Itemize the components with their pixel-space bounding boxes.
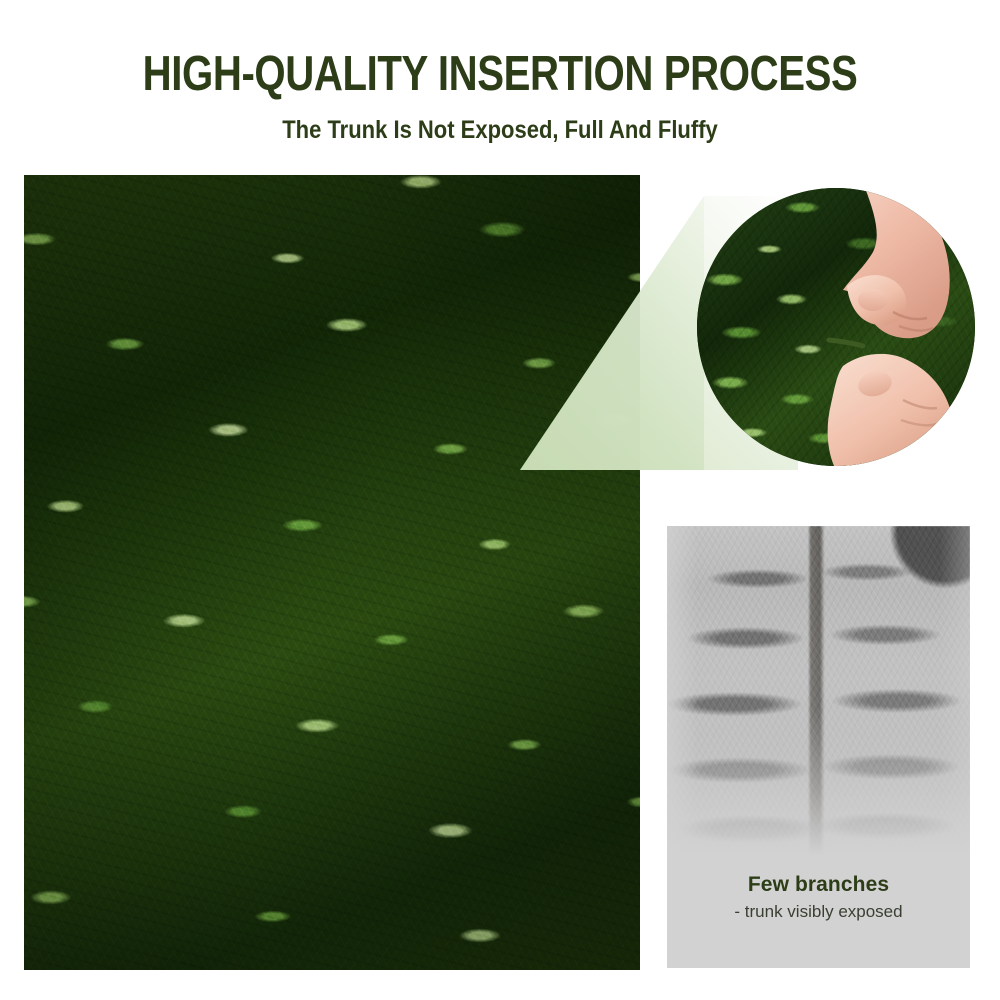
- main-foliage-photo: [24, 175, 640, 970]
- hand-illustration-icon: [697, 188, 975, 466]
- foliage-vignette: [24, 175, 640, 970]
- page-title: HIGH-QUALITY INSERTION PROCESS: [90, 48, 910, 100]
- photo-side-fade: [667, 526, 970, 856]
- page-subtitle: The Trunk Is Not Exposed, Full And Fluff…: [60, 115, 940, 145]
- comparison-caption: Few branches - trunk visibly exposed: [667, 871, 970, 924]
- comparison-caption-title: Few branches: [667, 871, 970, 898]
- comparison-panel: Few branches - trunk visibly exposed: [667, 526, 970, 968]
- circle-inset-photo: [697, 188, 975, 466]
- comparison-caption-subtitle: - trunk visibly exposed: [667, 900, 970, 924]
- sparse-tree-photo: [667, 526, 970, 856]
- infographic-page: HIGH-QUALITY INSERTION PROCESS The Trunk…: [0, 0, 1000, 1000]
